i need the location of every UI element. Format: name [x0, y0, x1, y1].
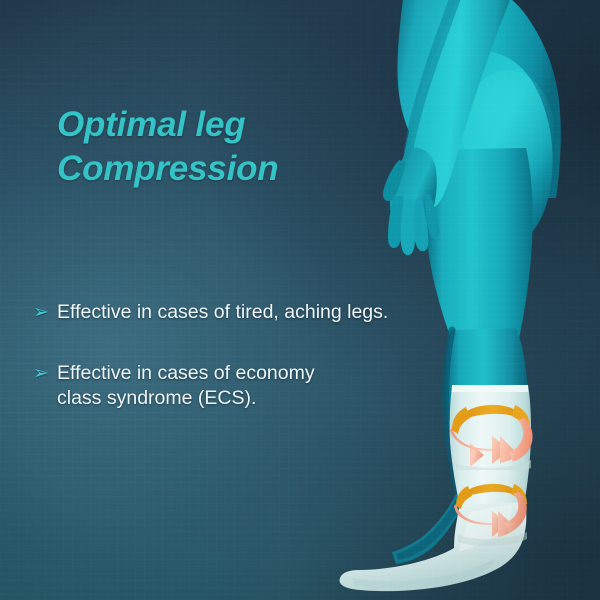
benefit-list: ➢ Effective in cases of tired, aching le… [33, 300, 453, 411]
list-item-text: Effective in cases of tired, aching legs… [57, 300, 453, 325]
arrowhead-bullet-icon: ➢ [33, 300, 57, 325]
slide-canvas: Optimal leg Compression ➢ Effective in c… [0, 0, 600, 600]
arrowhead-bullet-icon: ➢ [33, 361, 57, 386]
list-item: ➢ Effective in cases of tired, aching le… [33, 300, 453, 325]
list-item-line: class syndrome (ECS). [57, 386, 453, 411]
list-item-line: Effective in cases of economy [57, 361, 453, 386]
page-title: Optimal leg Compression [57, 103, 387, 191]
list-item-text: Effective in cases of economy class synd… [57, 361, 453, 411]
list-item-line: Effective in cases of tired, aching legs… [57, 300, 453, 325]
page-title-line-1: Optimal leg [57, 103, 387, 147]
list-item: ➢ Effective in cases of economy class sy… [33, 361, 453, 411]
page-title-line-2: Compression [57, 147, 387, 191]
